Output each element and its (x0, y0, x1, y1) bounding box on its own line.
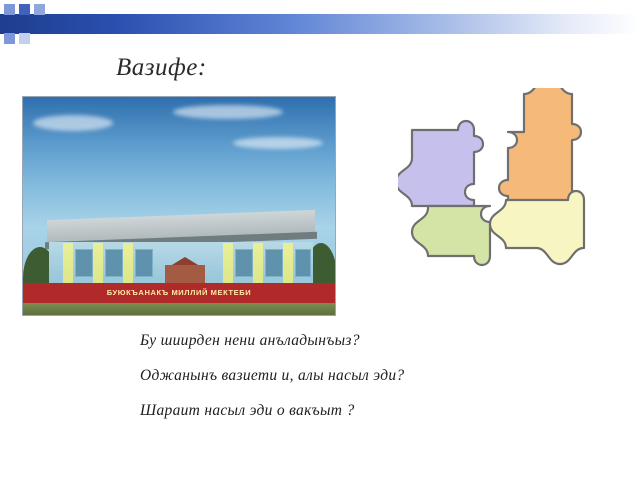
question-line-2: Оджанынъ вазиети и, алы насыл эди? (140, 367, 570, 385)
building-window (135, 249, 153, 277)
building-window (295, 249, 311, 277)
slide-title: Вазифе: (116, 54, 207, 82)
puzzle-piece-orange (499, 88, 581, 202)
photo-ground (23, 302, 335, 315)
banner-square-5 (19, 33, 30, 44)
puzzle-piece-green (412, 206, 490, 265)
question-line-3: Шараит насыл эди о вакъыт ? (140, 402, 570, 420)
banner-gradient-bar (0, 14, 640, 34)
photo-caption: БУЮКЪАНАКЪ МИЛЛИЙ МЕКТЕБИ (23, 283, 335, 303)
cloud-2 (173, 105, 283, 119)
banner-square-2 (19, 4, 30, 15)
cloud-3 (233, 137, 323, 149)
building-window (75, 249, 93, 277)
building-window (265, 249, 283, 277)
banner-square-3 (34, 4, 45, 15)
cloud-1 (33, 115, 113, 131)
decorative-top-banner (0, 0, 640, 46)
puzzle-pieces-graphic (398, 88, 624, 274)
puzzle-piece-yellow (490, 191, 584, 264)
building-window (105, 249, 123, 277)
question-list: Бу шиирден нени анъладынъыз? Оджанынъ ва… (140, 332, 570, 437)
question-line-1: Бу шиирден нени анъладынъыз? (140, 332, 570, 350)
building-window (235, 249, 253, 277)
school-building-photo: БУЮКЪАНАКЪ МИЛЛИЙ МЕКТЕБИ (22, 96, 336, 316)
banner-square-1 (4, 4, 15, 15)
puzzle-piece-purple (398, 121, 483, 206)
banner-square-4 (4, 33, 15, 44)
